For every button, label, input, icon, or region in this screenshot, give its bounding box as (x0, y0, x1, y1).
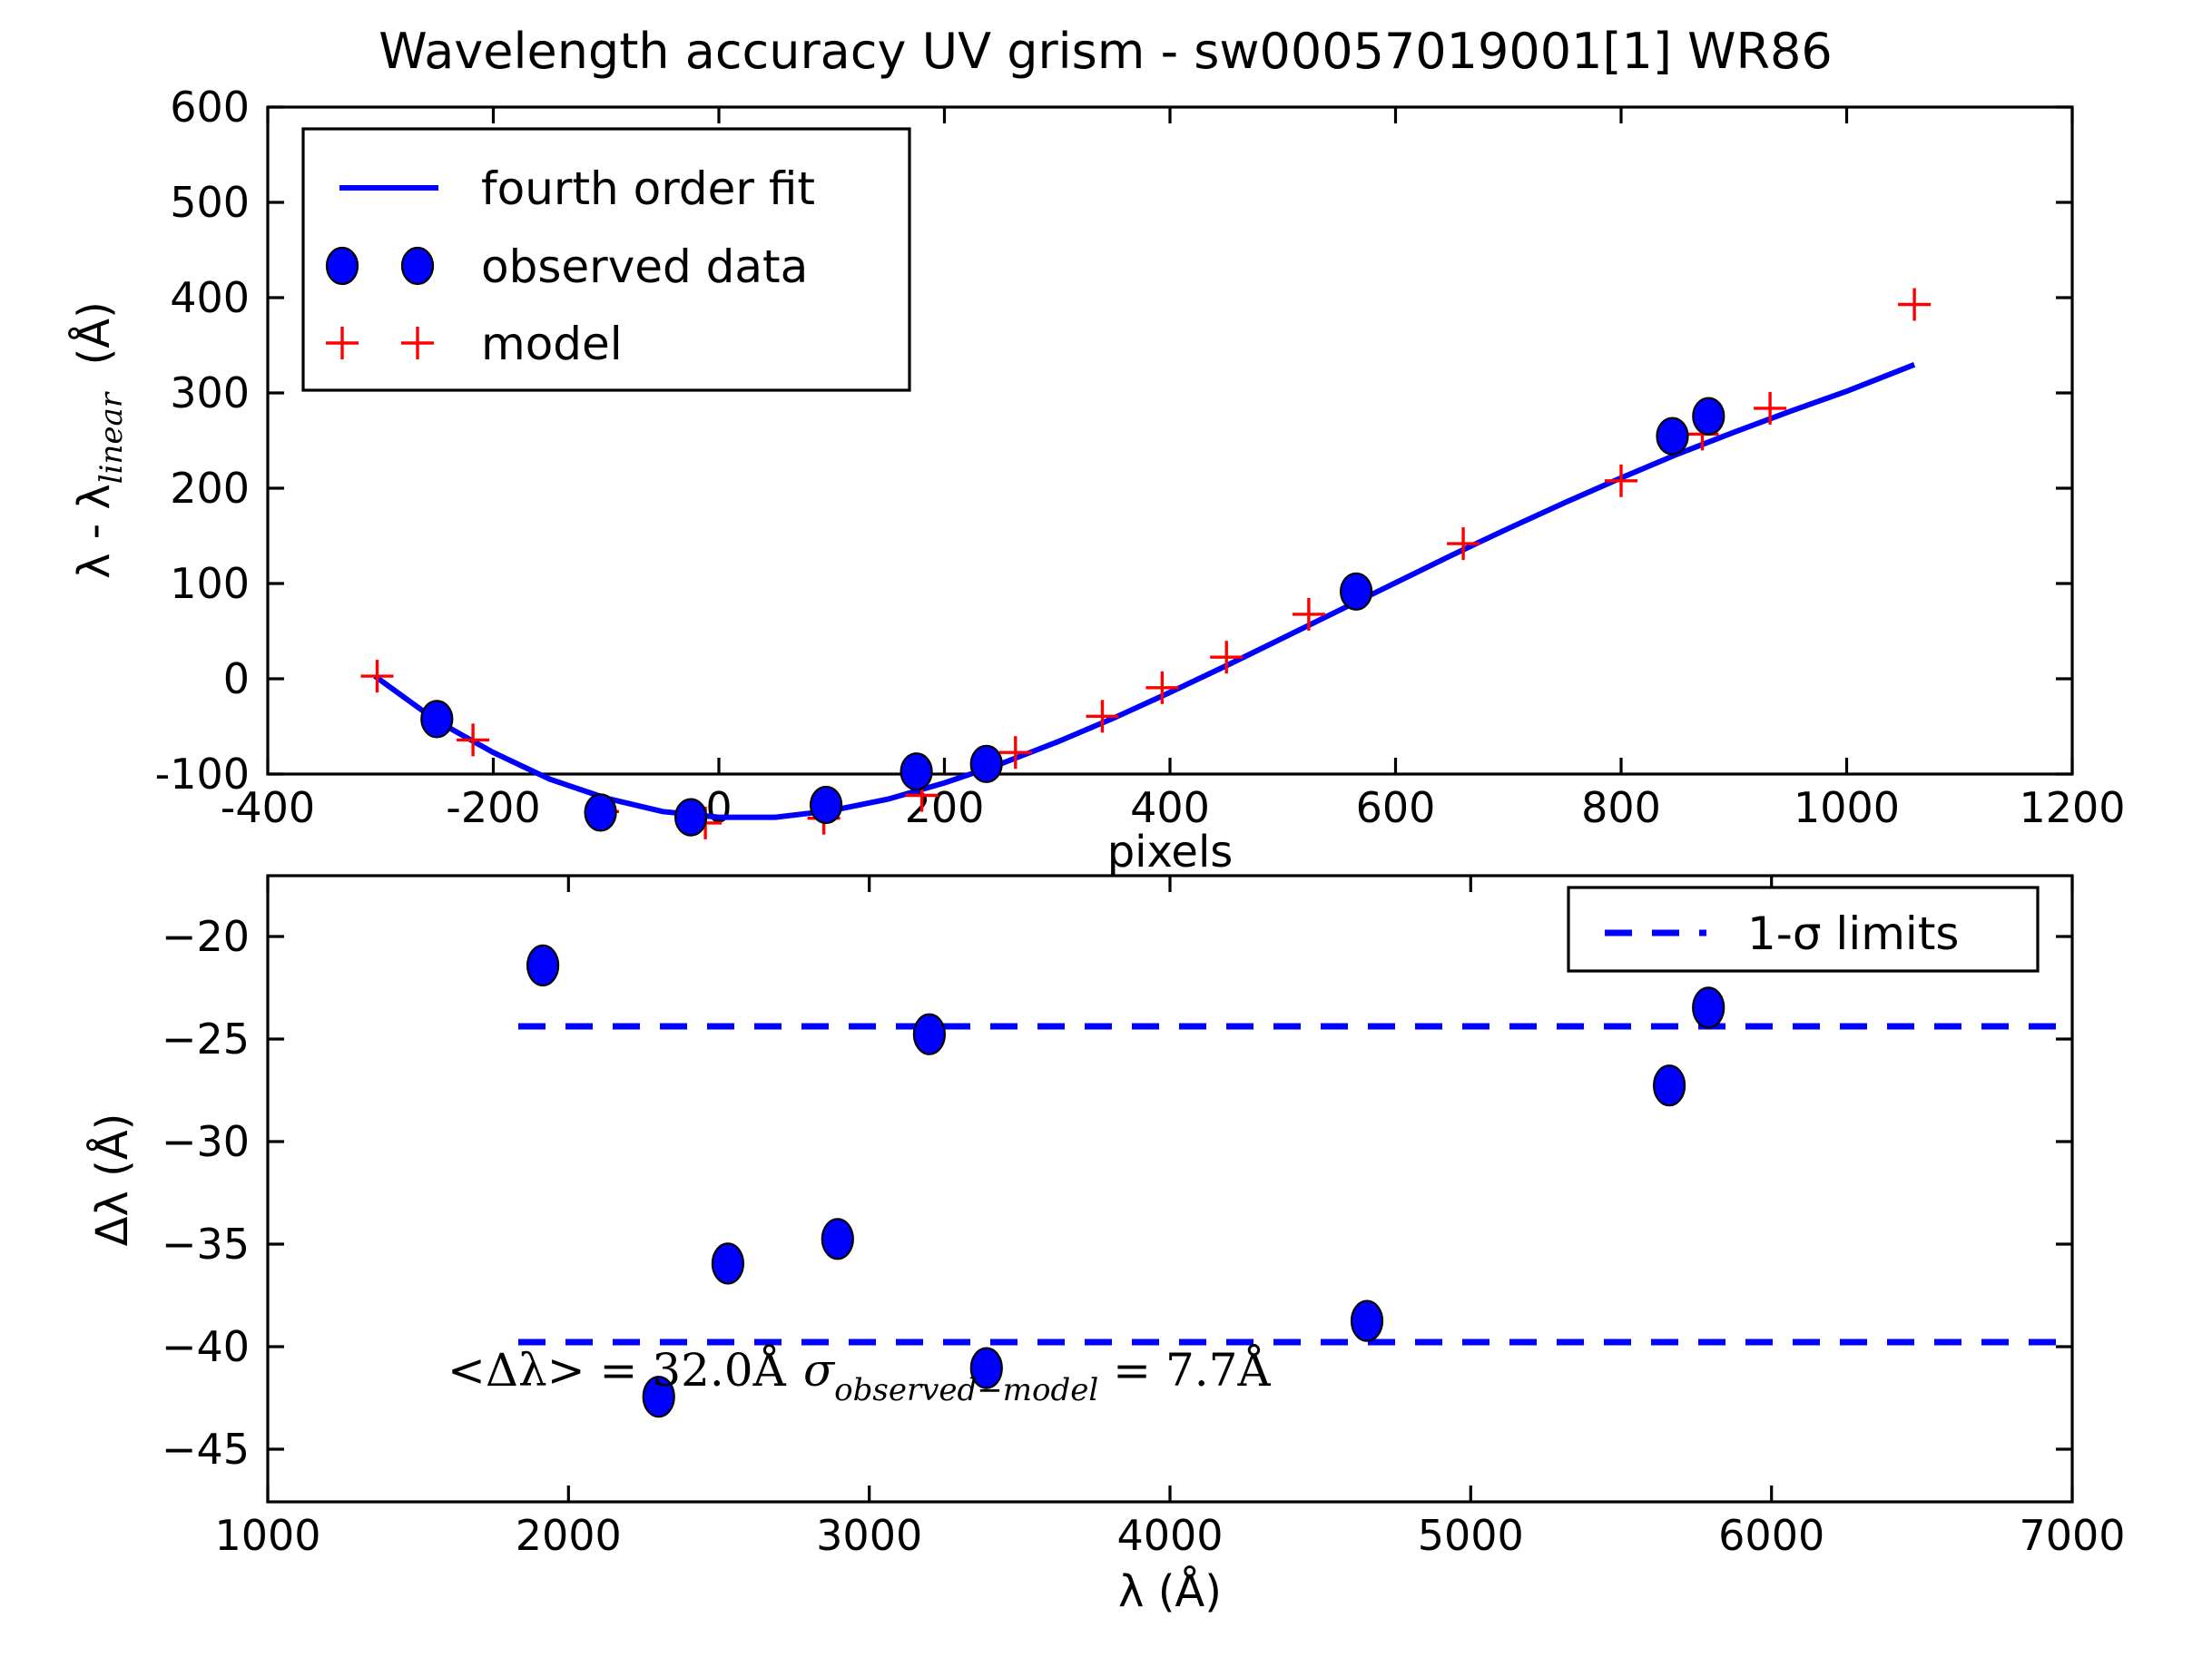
svg-text:100: 100 (170, 559, 250, 608)
bottom-panel-xlabel: λ (Å) (1118, 1565, 1222, 1617)
svg-text:0: 0 (705, 783, 732, 832)
top-panel-legend: fourth order fit observed data model (303, 129, 909, 390)
sigma-symbol: σ (803, 1344, 836, 1397)
model-marker (1605, 465, 1637, 497)
svg-text:-100: -100 (155, 750, 250, 799)
residual-point (1693, 987, 1724, 1027)
top-ylabel-unit: (Å) (68, 301, 120, 365)
one-sigma-limit-lines (518, 1026, 2072, 1342)
svg-text:600: 600 (1356, 783, 1436, 832)
legend-circle-swatch (327, 248, 358, 284)
svg-text:−25: −25 (162, 1015, 250, 1064)
figure-canvas: Wavelength accuracy UV grism - sw0005701… (0, 0, 2212, 1667)
bottom-panel-ytick-labels: −20 −25 −30 −35 −40 −45 (162, 912, 250, 1474)
legend-circle-swatch (402, 248, 433, 284)
svg-text:3000: 3000 (816, 1511, 922, 1560)
top-panel-ytick-labels: -100 0 100 200 300 400 500 600 (155, 83, 250, 799)
residual-point (914, 1015, 945, 1054)
model-marker (1293, 598, 1325, 631)
observed-data-markers (421, 398, 1724, 836)
legend-label: 1-σ limits (1747, 907, 1959, 960)
top-ylabel-sub: linear (93, 391, 130, 484)
legend-label: observed data (481, 240, 808, 293)
sigma-observed-model-text: σobserved−model = 7.7Å (803, 1343, 1271, 1408)
svg-text:1000: 1000 (214, 1511, 320, 1560)
residual-point (527, 946, 558, 985)
model-marker (1754, 392, 1786, 425)
svg-text:−40: −40 (162, 1322, 250, 1371)
bottom-ylabel-unit: (Å) (86, 1113, 138, 1177)
plot-svg: Wavelength accuracy UV grism - sw0005701… (0, 0, 2212, 1667)
residual-point (822, 1219, 853, 1259)
svg-text:2000: 2000 (516, 1511, 622, 1560)
svg-text:−20: −20 (162, 912, 250, 961)
bottom-panel-legend: 1-σ limits (1568, 887, 2038, 971)
svg-text:200: 200 (170, 464, 250, 513)
bottom-panel: 1000 2000 3000 4000 5000 6000 7000 −20 −… (86, 876, 2126, 1617)
svg-text:Δλ (Å): Δλ (Å) (86, 1113, 138, 1247)
svg-text:300: 300 (170, 368, 250, 417)
model-marker (1898, 289, 1931, 321)
svg-text:−45: −45 (162, 1425, 250, 1474)
bottom-xlabel-unit: (Å) (1158, 1565, 1222, 1617)
bottom-ylabel-main: Δλ (87, 1191, 138, 1246)
mean-delta-lambda-text: <Δλ> = 32.0Å (447, 1343, 787, 1397)
bottom-panel-ylabel: Δλ (Å) (86, 1113, 138, 1247)
bottom-panel-xtick-labels: 1000 2000 3000 4000 5000 6000 7000 (214, 1511, 2125, 1560)
svg-text:800: 800 (1581, 783, 1661, 832)
top-panel-xlabel: pixels (1107, 827, 1234, 878)
svg-text:0: 0 (223, 654, 250, 703)
svg-text:400: 400 (1130, 783, 1210, 832)
svg-text:-200: -200 (446, 783, 540, 832)
statistics-annotation: <Δλ> = 32.0Å σobserved−model = 7.7Å (447, 1343, 1271, 1408)
svg-text:6000: 6000 (1718, 1511, 1824, 1560)
svg-text:400: 400 (170, 273, 250, 322)
model-marker (457, 723, 489, 756)
bottom-xlabel-main: λ (1118, 1566, 1144, 1617)
residual-point (1352, 1301, 1382, 1341)
top-panel: -400 -200 0 200 400 600 800 1000 1200 -1… (68, 83, 2126, 878)
svg-text:−30: −30 (162, 1117, 250, 1166)
svg-text:1200: 1200 (2019, 783, 2125, 832)
svg-text:4000: 4000 (1116, 1511, 1223, 1560)
legend-label: model (481, 318, 623, 370)
svg-text:1000: 1000 (1794, 783, 1900, 832)
sigma-value: = 7.7Å (1113, 1343, 1271, 1397)
svg-text:600: 600 (170, 83, 250, 132)
top-ylabel-main: λ - λ (69, 484, 120, 579)
legend-label: fourth order fit (481, 162, 815, 215)
residual-point (713, 1243, 743, 1283)
svg-text:λ - λlinear (Å): λ - λlinear (Å) (68, 301, 130, 579)
svg-text:−35: −35 (162, 1220, 250, 1269)
top-panel-xtick-labels: -400 -200 0 200 400 600 800 1000 1200 (221, 783, 2126, 832)
svg-text:7000: 7000 (2019, 1511, 2125, 1560)
figure-title: Wavelength accuracy UV grism - sw0005701… (378, 23, 1832, 80)
svg-text:5000: 5000 (1418, 1511, 1524, 1560)
sigma-subscript: observed−model (834, 1372, 1098, 1408)
top-panel-ylabel: λ - λlinear (Å) (68, 301, 130, 579)
svg-text:500: 500 (170, 178, 250, 227)
residual-point (1654, 1065, 1685, 1105)
